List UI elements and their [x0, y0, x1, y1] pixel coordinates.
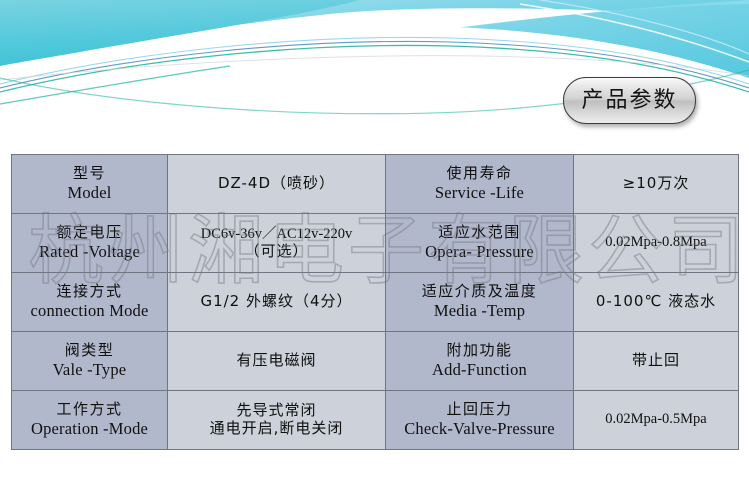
label-cn: 适应水范围 [390, 224, 569, 242]
label-cn: 使用寿命 [390, 165, 569, 183]
value-line: 0.02Mpa-0.5Mpa [578, 411, 734, 428]
param-value-opera-pressure: 0.02Mpa-0.8Mpa [574, 214, 739, 273]
param-label-add-function: 附加功能 Add-Function [386, 332, 574, 391]
param-value-connection-mode: G1/2 外螺纹（4分） [168, 273, 386, 332]
label-cn: 连接方式 [16, 283, 163, 301]
table-row: 阀类型 Vale -Type 有压电磁阀 附加功能 Add-Function 带… [12, 332, 739, 391]
label-cn: 阀类型 [16, 342, 163, 360]
value-line: 有压电磁阀 [172, 352, 381, 370]
label-cn: 型号 [16, 165, 163, 183]
label-cn: 额定电压 [16, 224, 163, 242]
label-en: Model [16, 183, 163, 202]
label-en: connection Mode [16, 301, 163, 320]
label-en: Service -Life [390, 183, 569, 202]
label-en: Opera- Pressure [390, 242, 569, 261]
value-line: 先导式常闭 [172, 402, 381, 420]
value-line: DC6v-36v／AC12v-220v [172, 226, 381, 243]
value-line-2: （可选） [172, 243, 381, 261]
label-cn: 适应介质及温度 [390, 283, 569, 301]
param-label-service-life: 使用寿命 Service -Life [386, 155, 574, 214]
table-row: 工作方式 Operation -Mode 先导式常闭 通电开启,断电关闭 止回压… [12, 391, 739, 450]
param-label-model: 型号 Model [12, 155, 168, 214]
param-label-media-temp: 适应介质及温度 Media -Temp [386, 273, 574, 332]
decorative-wave-banner [0, 0, 749, 150]
param-label-operation-mode: 工作方式 Operation -Mode [12, 391, 168, 450]
param-value-service-life: ≥10万次 [574, 155, 739, 214]
table-row: 额定电压 Rated -Voltage DC6v-36v／AC12v-220v … [12, 214, 739, 273]
label-en: Media -Temp [390, 301, 569, 320]
param-label-check-valve-pressure: 止回压力 Check-Valve-Pressure [386, 391, 574, 450]
param-label-valve-type: 阀类型 Vale -Type [12, 332, 168, 391]
param-label-opera-pressure: 适应水范围 Opera- Pressure [386, 214, 574, 273]
param-label-rated-voltage: 额定电压 Rated -Voltage [12, 214, 168, 273]
label-en: Rated -Voltage [16, 242, 163, 261]
table-row: 型号 Model DZ-4D（喷砂） 使用寿命 Service -Life ≥1… [12, 155, 739, 214]
param-value-check-valve-pressure: 0.02Mpa-0.5Mpa [574, 391, 739, 450]
label-cn: 工作方式 [16, 401, 163, 419]
label-en: Operation -Mode [16, 419, 163, 438]
value-line-2: 通电开启,断电关闭 [172, 420, 381, 438]
param-value-valve-type: 有压电磁阀 [168, 332, 386, 391]
param-value-rated-voltage: DC6v-36v／AC12v-220v （可选） [168, 214, 386, 273]
label-cn: 附加功能 [390, 342, 569, 360]
param-value-operation-mode: 先导式常闭 通电开启,断电关闭 [168, 391, 386, 450]
wave-graphic [0, 0, 749, 150]
value-line: 带止回 [578, 352, 734, 370]
page-title-badge: 产品参数 [563, 77, 696, 124]
label-en: Check-Valve-Pressure [390, 419, 569, 438]
label-en: Add-Function [390, 360, 569, 379]
label-cn: 止回压力 [390, 401, 569, 419]
product-parameters-table: 型号 Model DZ-4D（喷砂） 使用寿命 Service -Life ≥1… [11, 154, 739, 450]
param-value-add-function: 带止回 [574, 332, 739, 391]
label-en: Vale -Type [16, 360, 163, 379]
page-title: 产品参数 [581, 90, 677, 112]
param-label-connection-mode: 连接方式 connection Mode [12, 273, 168, 332]
param-value-media-temp: 0-100℃ 液态水 [574, 273, 739, 332]
value-line: G1/2 外螺纹（4分） [172, 293, 381, 311]
value-line: ≥10万次 [578, 175, 734, 193]
value-line: 0.02Mpa-0.8Mpa [578, 234, 734, 251]
table-row: 连接方式 connection Mode G1/2 外螺纹（4分） 适应介质及温… [12, 273, 739, 332]
value-line: 0-100℃ 液态水 [578, 293, 734, 311]
param-value-model: DZ-4D（喷砂） [168, 155, 386, 214]
value-line: DZ-4D（喷砂） [172, 175, 381, 193]
